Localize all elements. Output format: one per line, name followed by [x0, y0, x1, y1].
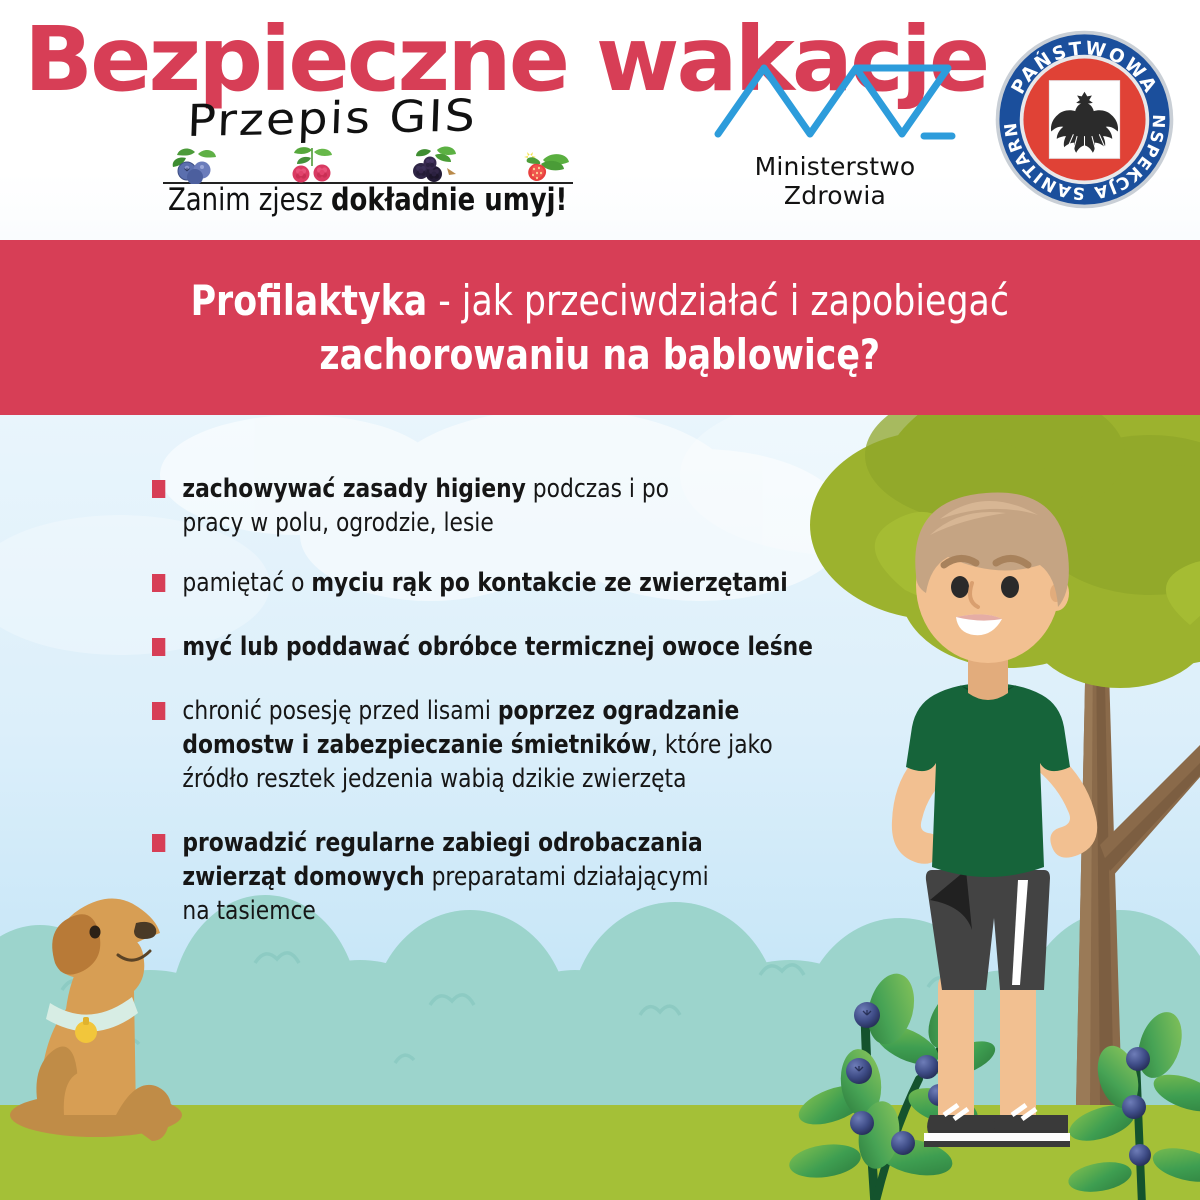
dog-eye — [90, 926, 101, 939]
banner-line-2: zachorowaniu na bąblowicę? — [320, 328, 881, 382]
section-banner: Profilaktyka - jak przeciwdziałać i zapo… — [0, 240, 1200, 415]
bullet-marker — [152, 638, 165, 656]
list-item: prowadzić regularne zabiegi odrobaczania… — [152, 826, 874, 928]
campaign-subtitle-bold: dokładnie umyj! — [331, 182, 567, 218]
campaign-script-title: Przepis GIS — [186, 92, 477, 146]
bullet-line: zachowywać zasady higieny podczas i po — [182, 472, 874, 506]
bullet-line: chronić posesję przed lisami poprzez ogr… — [182, 694, 874, 728]
bullet-bold: myć lub poddawać obróbce termicznej owoc… — [182, 632, 813, 662]
banner-line-1: Profilaktyka - jak przeciwdziałać i zapo… — [191, 274, 1009, 328]
mz-zigzag-mark — [700, 40, 970, 152]
list-item: zachowywać zasady higieny podczas i po p… — [152, 472, 874, 540]
bullet-line: prowadzić regularne zabiegi odrobaczania — [182, 826, 874, 860]
bullet-bold: zwierząt domowych — [182, 862, 424, 892]
banner-keyword: Profilaktyka — [191, 276, 428, 325]
bullet-regular: preparatami działającymi — [425, 862, 709, 892]
bullet-regular: podczas i po — [526, 474, 669, 504]
bullet-marker — [152, 702, 165, 720]
bullet-marker — [152, 834, 165, 852]
campaign-branding: Bezpieczne wakacje Przepis GIS — [18, 16, 678, 226]
bullet-marker — [152, 480, 165, 498]
bullet-bold: myciu rąk po kontakcie ze zwierzętami — [311, 568, 787, 598]
campaign-subtitle: Zanim zjesz dokładnie umyj! — [168, 182, 567, 218]
bullet-line: pamiętać o myciu rąk po kontakcie ze zwi… — [182, 566, 874, 600]
prevention-list: zachowywać zasady higieny podczas i po p… — [152, 472, 912, 954]
bullet-marker — [152, 574, 165, 592]
banner-line-1-rest: - jak przeciwdziałać i zapobiegać — [427, 276, 1009, 325]
bullet-bold: poprzez ogradzanie — [498, 696, 739, 726]
strawberry-icon — [513, 144, 575, 184]
blackberry-cluster-icon — [401, 144, 463, 184]
bullet-regular: chronić posesję przed lisami — [182, 696, 497, 726]
list-item: chronić posesję przed lisami poprzez ogr… — [152, 694, 874, 796]
campaign-subtitle-plain: Zanim zjesz — [168, 182, 331, 218]
list-item: pamiętać o myciu rąk po kontakcie ze zwi… — [152, 566, 874, 600]
sanitary-inspection-logo: PAŃSTWOWA INSPEKCJA SANITARNA — [992, 27, 1177, 212]
bullet-bold: zachowywać zasady higieny — [182, 474, 525, 504]
bullet-line: myć lub poddawać obróbce termicznej owoc… — [182, 630, 874, 664]
bullet-line: pracy w polu, ogrodzie, lesie — [182, 506, 874, 540]
bullet-regular: pamiętać o — [182, 568, 311, 598]
bullet-line: źródło resztek jedzenia wabią dzikie zwi… — [182, 762, 874, 796]
bullet-bold: domostw i zabezpieczanie śmietników — [182, 730, 651, 760]
bullet-bold: prowadzić regularne zabiegi odrobaczania — [182, 828, 702, 858]
poster-header: Bezpieczne wakacje Przepis GIS — [0, 0, 1200, 240]
blueberry-cluster-icon — [165, 144, 227, 184]
bullet-line: na tasiemce — [182, 894, 874, 928]
raspberry-cluster-icon — [281, 144, 343, 184]
ministry-of-health-logo: Ministerstwo Zdrowia — [700, 40, 970, 200]
ministry-logo-caption: Ministerstwo Zdrowia — [700, 152, 970, 210]
bullet-line: domostw i zabezpieczanie śmietników, któ… — [182, 728, 874, 762]
list-item: myć lub poddawać obróbce termicznej owoc… — [152, 630, 874, 664]
bullet-regular: , które jako — [651, 730, 773, 760]
bullet-line: zwierząt domowych preparatami działający… — [182, 860, 874, 894]
infographic-poster: Bezpieczne wakacje Przepis GIS — [0, 0, 1200, 1200]
